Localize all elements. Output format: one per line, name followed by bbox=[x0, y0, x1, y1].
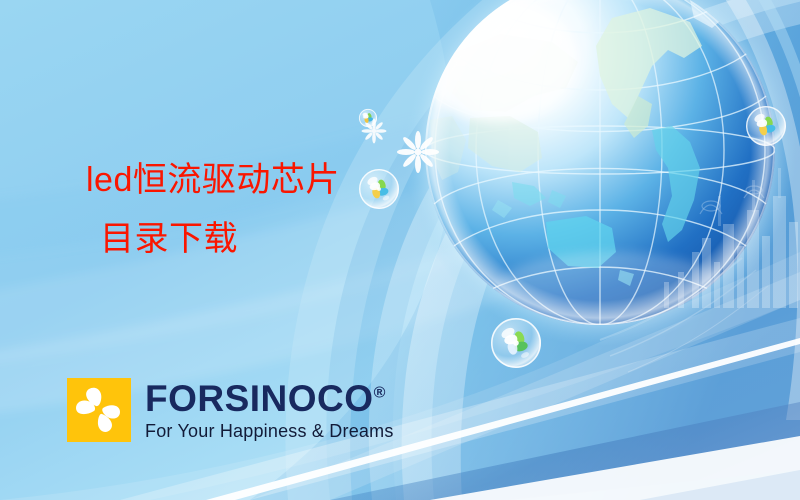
logo-tagline: For Your Happiness & Dreams bbox=[145, 421, 394, 442]
logo-wordmark: FORSINOCO® bbox=[145, 380, 394, 417]
bubble bbox=[746, 106, 786, 146]
logo-wordmark-text: FORSINOCO bbox=[145, 378, 374, 419]
bubble bbox=[359, 169, 399, 209]
logo-text-block: FORSINOCO® For Your Happiness & Dreams bbox=[145, 378, 394, 442]
registered-trademark-symbol: ® bbox=[374, 385, 386, 402]
banner-canvas: led恒流驱动芯片 目录下载 FORSINOCO® bbox=[0, 0, 800, 500]
bubble bbox=[359, 109, 377, 127]
forsinoco-pinwheel-mark-icon bbox=[67, 378, 131, 442]
bubble bbox=[491, 318, 541, 368]
forsinoco-logo: FORSINOCO® For Your Happiness & Dreams bbox=[67, 378, 394, 442]
